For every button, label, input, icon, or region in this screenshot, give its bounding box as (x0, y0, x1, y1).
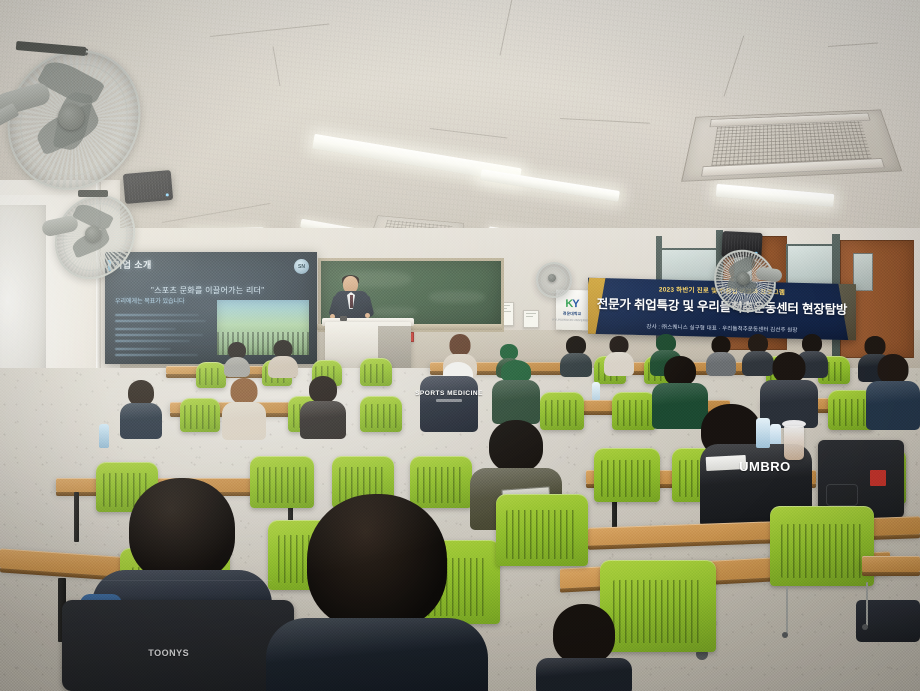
slide-logo: SN (294, 259, 309, 274)
wall-notice (523, 310, 539, 328)
podium-microphone (340, 316, 347, 321)
logo-mark: KY (565, 298, 578, 310)
student (268, 340, 298, 376)
slide-quote: "스포츠 문화를 이끌어가는 리더" (151, 285, 264, 296)
student-torso (268, 356, 298, 378)
wall-fan (54, 196, 132, 274)
student-cap-green (501, 360, 531, 382)
student-head (489, 420, 543, 472)
desk-leg (74, 492, 79, 542)
water-bottle (99, 424, 109, 448)
apparel-sublogo (436, 399, 462, 402)
chair-leg (786, 586, 788, 634)
fan-hub (58, 104, 84, 130)
chair (770, 506, 874, 586)
student-foreground-center (266, 494, 488, 691)
student-torso (604, 352, 634, 376)
slide-body-text (115, 302, 211, 360)
chair-caster (782, 632, 788, 638)
student-head (664, 356, 696, 386)
student-head (450, 334, 471, 356)
chair (594, 448, 660, 502)
wall-fan (6, 52, 138, 184)
logo-subtitle: KYUNGWOON UNIVERSITY (552, 318, 591, 323)
student-head (773, 352, 806, 383)
desk (862, 556, 920, 572)
student-head (878, 354, 909, 384)
backpack-pocket (826, 484, 858, 506)
student-torso (560, 353, 592, 377)
water-bottle (592, 382, 600, 400)
ac-cassette-vent (681, 109, 902, 181)
wall-fan (714, 250, 772, 308)
chair (180, 398, 220, 432)
fan-hub (737, 272, 750, 285)
student-torso (706, 352, 736, 376)
student (536, 604, 632, 691)
fan-mount-bracket (78, 190, 108, 197)
chair (612, 392, 656, 430)
student (120, 380, 162, 438)
chair (360, 358, 392, 386)
student-torso (222, 402, 266, 440)
iced-drink-cup (784, 426, 804, 460)
student-torso (536, 658, 632, 691)
student (300, 376, 346, 438)
apparel-logo-umbro: UMBRO (739, 459, 791, 474)
door-window (853, 253, 873, 291)
chair (360, 396, 402, 432)
student-torso (492, 380, 540, 424)
student (492, 360, 540, 424)
apparel-logo-sports-medicine: SPORTS MEDICINE (415, 390, 483, 397)
chair (496, 494, 588, 566)
student-head (553, 604, 615, 664)
classroom-photo: 기업 소개 SN "스포츠 문화를 이끌어가는 리더" 우리에게는 목표가 있습… (0, 0, 920, 691)
student (224, 342, 250, 374)
apparel-logo-toonys: TOONYS (148, 648, 189, 658)
student-head (307, 494, 447, 630)
student (866, 354, 920, 430)
student-torso (224, 357, 250, 377)
student (706, 336, 736, 376)
presenter-tie (350, 295, 353, 308)
student-head (309, 376, 337, 403)
backpack-badge (870, 470, 886, 486)
logo-name: 경운대학교 (563, 311, 581, 317)
fan-hub (548, 274, 556, 282)
student (560, 336, 592, 376)
fan-hub (85, 226, 101, 242)
student (604, 336, 634, 376)
water-bottle (756, 418, 770, 448)
student-jacket (266, 618, 488, 691)
student-head (129, 478, 235, 582)
student-torso (866, 381, 920, 430)
chair-leg (866, 582, 868, 626)
student-head (231, 378, 258, 404)
student-torso (300, 401, 346, 439)
student-torso (120, 403, 162, 439)
chair-caster (862, 624, 868, 630)
duffel-bag: TOONYS (62, 600, 294, 691)
wall-fan (536, 262, 568, 294)
student-head (865, 336, 886, 356)
student (222, 378, 266, 438)
